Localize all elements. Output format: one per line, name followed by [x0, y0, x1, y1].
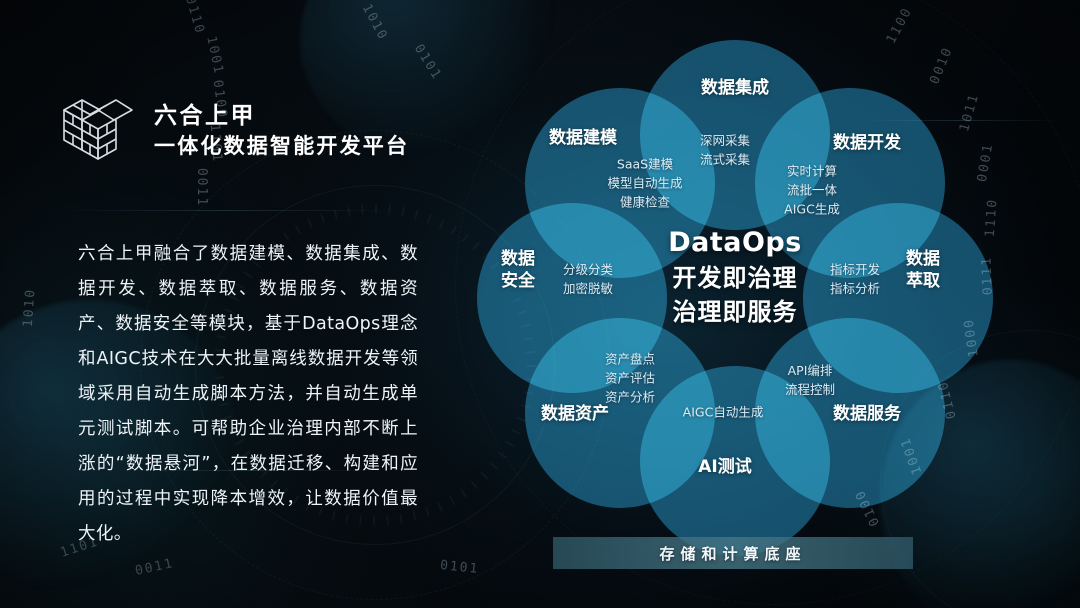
hub-subtitle-line1: 开发即治理	[668, 261, 802, 295]
sub-labels-asset: 资产盘点 资产评估 资产分析	[605, 350, 655, 407]
sub-label-saas-modeling: SaaS建模	[617, 157, 673, 172]
sub-labels-testing: AIGC自动生成	[683, 403, 764, 422]
sub-label-aigc-generate: AIGC生成	[784, 202, 840, 217]
sub-label-metric-dev: 指标开发	[830, 262, 880, 277]
sub-label-asset-evaluation: 资产评估	[605, 371, 655, 386]
sub-label-health-check: 健康检查	[620, 195, 670, 210]
node-label-data-extraction-line2: 萃取	[906, 271, 940, 291]
description-paragraph: 六合上甲融合了数据建模、数据集成、数据开发、数据萃取、数据服务、数据资产、数据安…	[78, 237, 418, 552]
brand-name: 六合上甲	[154, 101, 409, 132]
storage-compute-base-bar: 存储和计算底座	[553, 537, 913, 569]
sub-label-stream-collect: 流式采集	[700, 152, 750, 167]
node-label-data-integration: 数据集成	[701, 77, 769, 99]
node-label-data-extraction: 数据 萃取	[906, 248, 940, 292]
sub-labels-security: 分级分类 加密脱敏	[563, 260, 613, 298]
node-label-data-extraction-line1: 数据	[906, 249, 940, 269]
sub-labels-development: 实时计算 流批一体 AIGC生成	[784, 162, 840, 219]
sub-label-metric-analysis: 指标分析	[830, 281, 880, 296]
sub-labels-integration: 深网采集 流式采集	[700, 131, 750, 169]
sub-labels-extraction: 指标开发 指标分析	[830, 260, 880, 298]
node-label-data-asset: 数据资产	[541, 403, 609, 425]
brand-subtitle: 一体化数据智能开发平台	[154, 132, 409, 161]
node-label-data-security: 数据 安全	[501, 248, 535, 292]
diagram-hub: DataOps 开发即治理 治理即服务	[668, 225, 802, 329]
sub-label-encrypt-mask: 加密脱敏	[563, 281, 613, 296]
sub-label-auto-model-gen: 模型自动生成	[607, 176, 682, 191]
sub-label-stream-batch: 流批一体	[787, 183, 837, 198]
sub-label-deepweb-collect: 深网采集	[700, 133, 750, 148]
hub-title-dataops: DataOps	[668, 225, 802, 261]
sub-label-asset-inventory: 资产盘点	[605, 352, 655, 367]
hub-subtitle-line2: 治理即服务	[668, 295, 802, 329]
brick-wall-logo-icon	[60, 88, 136, 170]
sub-label-realtime-compute: 实时计算	[787, 164, 837, 179]
sub-labels-modeling: SaaS建模 模型自动生成 健康检查	[607, 155, 682, 212]
brand-row: 六合上甲 一体化数据智能开发平台	[60, 88, 430, 170]
node-label-data-security-line2: 安全	[501, 271, 535, 291]
node-label-data-security-line1: 数据	[501, 249, 535, 269]
sub-label-api-orchestration: API编排	[788, 363, 833, 378]
sub-label-aigc-auto-gen: AIGC自动生成	[683, 405, 764, 420]
node-label-ai-testing: AI测试	[698, 456, 751, 478]
sub-label-asset-analysis: 资产分析	[605, 390, 655, 405]
brand-panel: 六合上甲 一体化数据智能开发平台	[60, 88, 430, 170]
sub-label-process-control: 流程控制	[785, 382, 835, 397]
sub-label-classification: 分级分类	[563, 262, 613, 277]
dataops-venn-diagram: 数据集成 数据开发 数据 萃取 数据服务 AI测试 数据资产 数据 安全 数据建…	[455, 20, 1015, 540]
node-label-data-service: 数据服务	[833, 403, 901, 425]
brand-text-block: 六合上甲 一体化数据智能开发平台	[154, 97, 409, 161]
node-label-data-modeling: 数据建模	[549, 127, 617, 149]
base-bar-label: 存储和计算底座	[659, 543, 806, 564]
node-label-data-development: 数据开发	[833, 132, 901, 154]
sub-labels-service: API编排 流程控制	[785, 361, 835, 399]
